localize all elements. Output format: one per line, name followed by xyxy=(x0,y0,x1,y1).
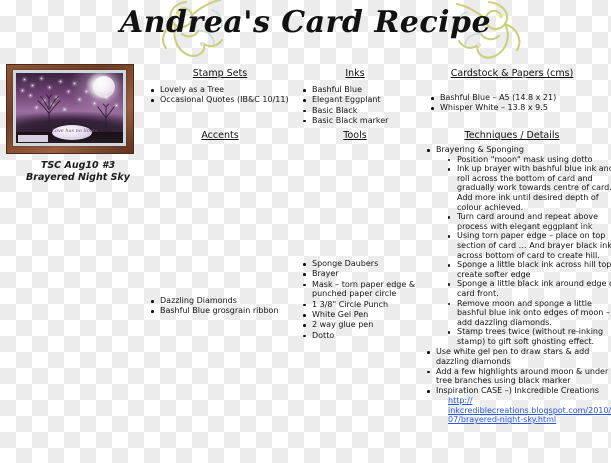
list-item: Bashful Blue – A5 (14.8 x 21) xyxy=(431,93,611,103)
heading-tools: Tools xyxy=(290,130,420,141)
list-cardstock: Bashful Blue – A5 (14.8 x 21) Whisper Wh… xyxy=(420,93,611,114)
list-item: Use white gel pen to draw stars & add da… xyxy=(427,347,611,366)
tree-silhouette-small-icon xyxy=(95,103,117,127)
card-photo: Love has no limits xyxy=(6,64,134,154)
list-item: Basic Black xyxy=(303,106,433,116)
technique-group-brayering: Brayering & Sponging Position "moon" mas… xyxy=(427,145,611,346)
sentiment-text: Love has no limits xyxy=(52,128,92,134)
photo-caption-line1: TSC Aug10 #3 xyxy=(8,160,148,172)
technique-inspiration: Inspiration CASE –) Inkcredible Creation… xyxy=(427,386,611,424)
inspiration-link-line2[interactable]: inkcrediblecreations.blogspot.com/2010/ xyxy=(436,406,611,416)
photo-mat: Love has no limits xyxy=(13,70,126,146)
night-sky-artwork: Love has no limits xyxy=(16,73,123,143)
heading-cardstock: Cardstock & Papers (cms) xyxy=(414,68,610,79)
inspiration-link-line3[interactable]: 07/brayered-night-sky.html xyxy=(436,415,611,425)
list-item: Sponge a little black ink around edge of… xyxy=(448,279,611,298)
inspiration-label: Inspiration CASE –) Inkcredible Creation… xyxy=(436,386,599,395)
heading-techniques: Techniques / Details xyxy=(414,130,610,141)
photo-caption-line2: Brayered Night Sky xyxy=(8,172,148,184)
list-item: Add a few highlights around moon & under… xyxy=(427,367,611,386)
list-item: Elegant Eggplant xyxy=(303,95,433,105)
sentiment-oval: Love has no limits xyxy=(52,125,92,140)
heading-stamp-sets: Stamp Sets xyxy=(140,68,300,79)
page-title: Andrea's Card Recipe xyxy=(0,5,611,40)
recipe-page: Andrea's Card Recipe xyxy=(0,0,611,463)
list-item: Turn card around and repeat above proces… xyxy=(448,212,611,231)
moon-icon xyxy=(93,76,115,98)
list-item: Bashful Blue xyxy=(303,85,433,95)
list-item: Stamp trees twice (without re-inking sta… xyxy=(448,327,611,346)
list-brayering-steps: Position "moon" mask using dotto Ink up … xyxy=(436,155,611,347)
strip-label xyxy=(18,135,48,142)
photo-caption: TSC Aug10 #3 Brayered Night Sky xyxy=(8,160,148,184)
list-techniques: Brayering & Sponging Position "moon" mas… xyxy=(416,145,611,425)
tree-silhouette-icon xyxy=(32,93,66,127)
list-tools: Sponge Daubers Brayer Mask – torn paper … xyxy=(292,259,435,341)
list-accents: Dazzling Diamonds Bashful Blue grosgrain… xyxy=(140,296,317,317)
list-item: Position "moon" mask using dotto xyxy=(448,155,611,165)
title-band: Andrea's Card Recipe xyxy=(0,0,611,62)
list-item: Basic Black marker xyxy=(303,116,433,126)
technique-group-label: Brayering & Sponging xyxy=(436,145,524,154)
list-item: Sponge a little black ink across hill to… xyxy=(448,260,611,279)
list-item: Using torn paper edge – place on top sec… xyxy=(448,231,611,260)
list-item: Whisper White – 13.8 x 9.5 xyxy=(431,103,611,113)
list-stamp-sets: Lovely as a Tree Occasional Quotes (IB&C… xyxy=(140,85,317,106)
heading-inks: Inks xyxy=(290,68,420,79)
heading-accents: Accents xyxy=(140,130,300,141)
inspiration-link-line1[interactable]: http:// xyxy=(436,396,611,406)
list-item: Ink up brayer with bashful blue ink and … xyxy=(448,164,611,212)
list-inks: Bashful Blue Elegant Eggplant Basic Blac… xyxy=(292,85,433,126)
list-item: Remove moon and sponge a little bashful … xyxy=(448,299,611,328)
